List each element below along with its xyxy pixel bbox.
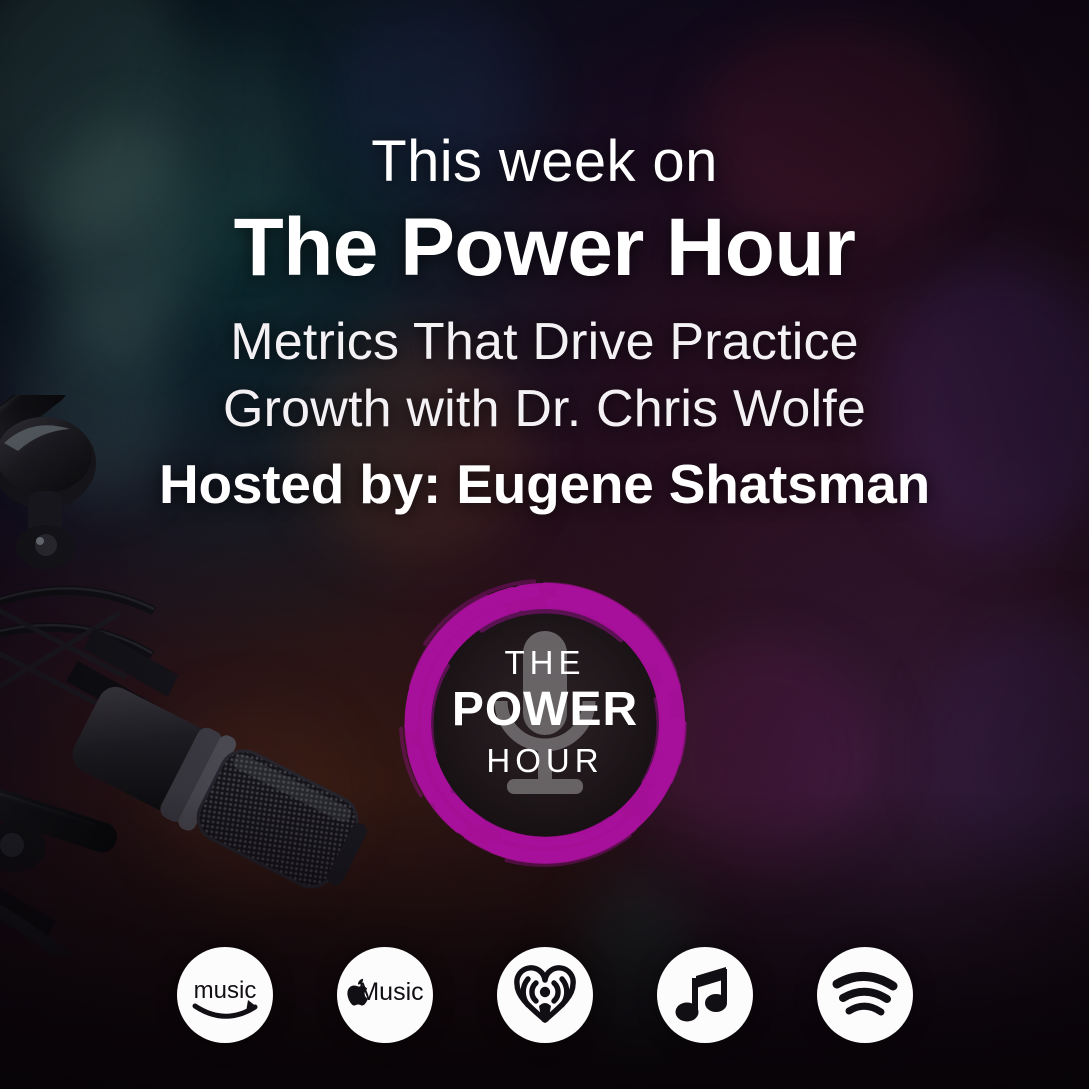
podcast-promo-poster: This week on The Power Hour Metrics That…: [0, 0, 1089, 1089]
svg-text:Music: Music: [358, 978, 423, 1006]
itunes-music-note-icon[interactable]: [657, 947, 753, 1043]
headline-text-block: This week on The Power Hour Metrics That…: [0, 132, 1089, 515]
logo-line-the: THE: [504, 644, 585, 681]
episode-subtitle-line-2: Growth with Dr. Chris Wolfe: [0, 376, 1089, 444]
power-hour-logo-badge: THE POWER HOUR: [395, 573, 695, 873]
logo-line-hour: HOUR: [486, 742, 603, 779]
show-title: The Power Hour: [0, 204, 1089, 293]
kicker-text: This week on: [0, 132, 1089, 192]
apple-music-icon[interactable]: Music: [337, 947, 433, 1043]
platform-icon-row: music Music: [0, 947, 1089, 1043]
host-credit: Hosted by: Eugene Shatsman: [0, 454, 1089, 515]
episode-subtitle-line-1: Metrics That Drive Practice: [0, 309, 1089, 377]
amazon-music-icon[interactable]: music: [177, 947, 273, 1043]
spotify-icon[interactable]: [817, 947, 913, 1043]
iheartradio-icon[interactable]: [497, 947, 593, 1043]
logo-line-power: POWER: [451, 683, 637, 736]
svg-text:music: music: [193, 977, 256, 1004]
